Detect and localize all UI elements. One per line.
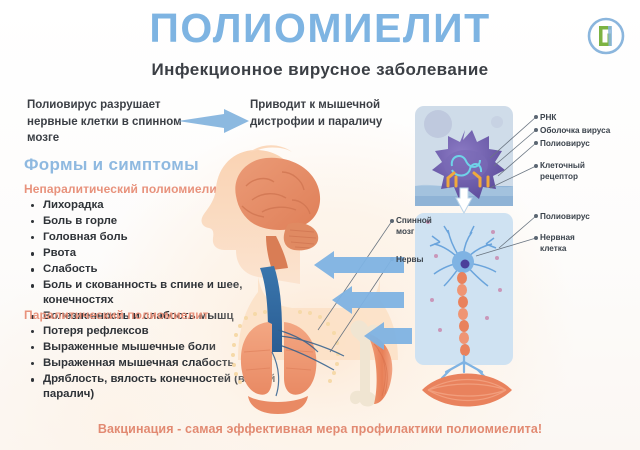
- intro-cause-text: Полиовирус разрушает нервные клетки в сп…: [27, 97, 192, 147]
- page-subtitle: Инфекционное вирусное заболевание: [0, 60, 640, 80]
- virus-panel: [415, 106, 513, 206]
- list-item: Лихорадка: [30, 198, 288, 213]
- label-cell-receptor: Клеточный рецептор: [540, 161, 585, 182]
- label-poliovirus-top: Полиовирус: [540, 139, 590, 150]
- list-item: Рвота: [30, 246, 288, 261]
- label-spinal-cord: Спинной мозг: [396, 216, 432, 237]
- page-title: ПОЛИОМИЕЛИТ: [0, 8, 640, 49]
- label-rna: РНК: [540, 113, 556, 124]
- clinic-logo-icon: [586, 16, 626, 56]
- list-item: Слабость: [30, 262, 288, 277]
- list-item: Боль в горле: [30, 214, 288, 229]
- paralytic-symptom-list: Потеря рефлексов Выраженные мышечные бол…: [30, 324, 288, 403]
- label-nerve-cell: Нервная клетка: [540, 233, 575, 254]
- nonparalytic-heading: Непаралитический полиомиелит: [24, 182, 223, 196]
- poster-root: ПОЛИОМИЕЛИТ Инфекционное вирусное заболе…: [0, 0, 640, 450]
- forms-heading: Формы и симптомы: [24, 155, 199, 175]
- list-item: Потеря рефлексов: [30, 324, 288, 339]
- pointer-arrows: [314, 251, 412, 350]
- label-nerves: Нервы: [396, 255, 424, 266]
- arm-bone-muscle: [350, 320, 392, 406]
- list-item: Боль и скованность в спине и шее, конечн…: [30, 278, 288, 308]
- list-item: Выраженная мышечная слабость: [30, 356, 288, 371]
- intro-effect-text: Приводит к мышечной дистрофии и параличу: [250, 97, 425, 130]
- list-item: Головная боль: [30, 230, 288, 245]
- paralytic-heading: Паралитический полиомиелит: [24, 308, 209, 322]
- list-item: Дряблость, вялость конечностей (вялый па…: [30, 372, 288, 402]
- nonparalytic-symptom-list: Лихорадка Боль в горле Головная боль Рво…: [30, 198, 288, 325]
- label-poliovirus-bottom: Полиовирус: [540, 212, 590, 223]
- right-arrow-icon: [178, 108, 250, 134]
- list-item: Выраженные мышечные боли: [30, 340, 288, 355]
- muscle-fiber-bundle: [422, 374, 512, 407]
- label-virus-envelope: Оболочка вируса: [540, 126, 610, 137]
- vaccination-message: Вакцинация - самая эффективная мера проф…: [0, 422, 640, 436]
